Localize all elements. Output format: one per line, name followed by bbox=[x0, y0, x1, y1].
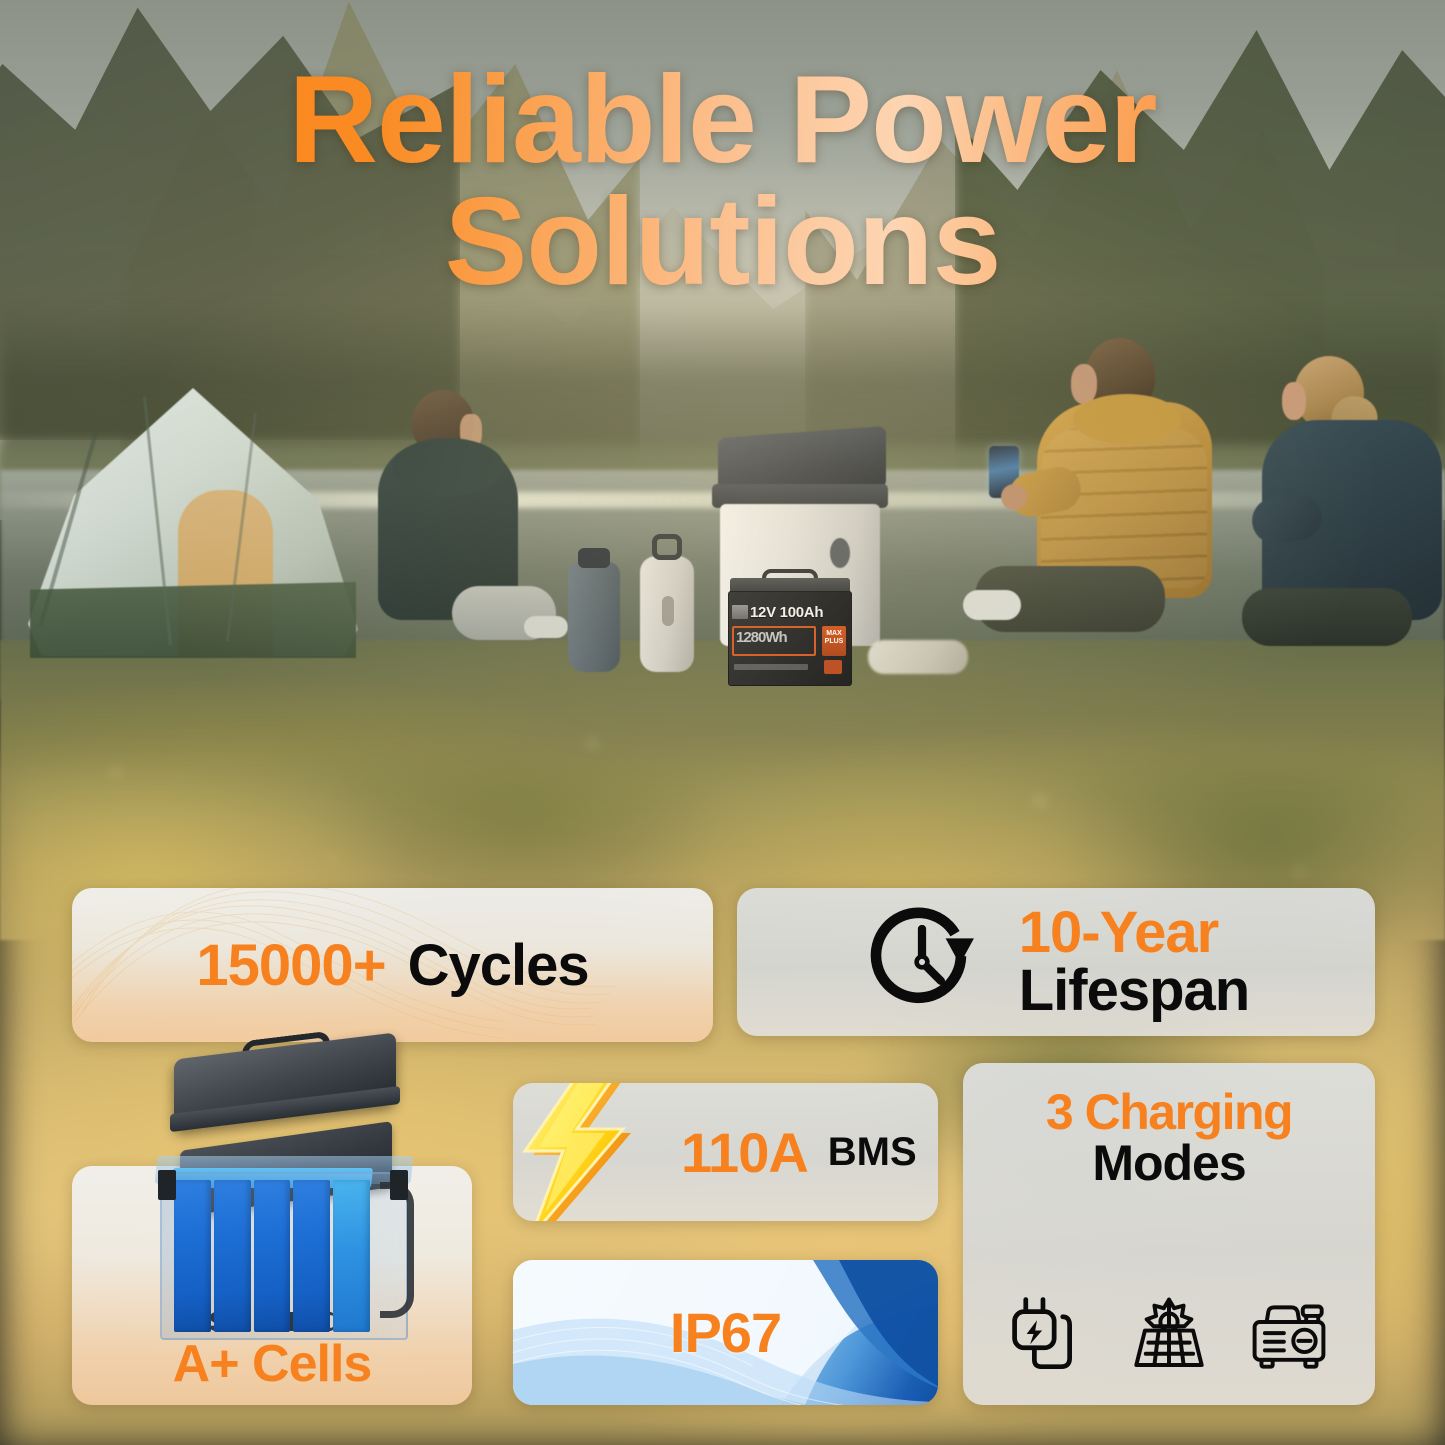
feature-card-ingress: IP67 bbox=[513, 1260, 938, 1405]
headline-line-1: Reliable Power bbox=[0, 60, 1445, 182]
ac-plug-icon bbox=[1006, 1291, 1092, 1377]
feature-card-charging-modes: 3 Charging Modes bbox=[963, 1063, 1375, 1405]
battery-capacity-label: 12V 100Ah bbox=[750, 604, 823, 621]
lifepo4-battery-product: 12V 100Ah 1280Wh MAX PLUS bbox=[728, 578, 852, 686]
feature-card-cycles: 15000+ Cycles bbox=[72, 888, 713, 1042]
lifespan-value: 10-Year bbox=[1019, 904, 1250, 962]
ground-cloth bbox=[868, 640, 968, 674]
battery-energy-label: 1280Wh bbox=[736, 629, 787, 646]
cycles-text: 15000+ Cycles bbox=[72, 888, 713, 1042]
feature-card-bms: 110A BMS bbox=[513, 1083, 938, 1221]
camper-companion bbox=[1248, 356, 1445, 656]
thermos-window bbox=[662, 596, 674, 626]
ingress-value: IP67 bbox=[513, 1260, 938, 1405]
tent bbox=[28, 370, 378, 660]
page-title: Reliable Power Solutions bbox=[0, 60, 1445, 303]
camper-with-phone bbox=[975, 338, 1245, 658]
lightning-bolt-icon bbox=[513, 1083, 655, 1221]
bms-value: 110A bbox=[681, 1120, 808, 1185]
camper-at-tent bbox=[352, 390, 542, 660]
water-bottle-dark-cap bbox=[578, 548, 610, 568]
modes-line-1: 3 Charging bbox=[963, 1087, 1375, 1138]
cells-line-2: A+ Cells bbox=[72, 1338, 472, 1391]
cycles-label: Cycles bbox=[408, 932, 589, 999]
bms-text: 110A BMS bbox=[681, 1083, 917, 1221]
charging-mode-icons bbox=[963, 1291, 1375, 1377]
water-bottle-dark bbox=[568, 562, 620, 672]
generator-icon bbox=[1246, 1291, 1332, 1377]
feature-card-lifespan: 10-Year Lifespan bbox=[737, 888, 1375, 1036]
product-feature-image: 12V 100Ah 1280Wh MAX PLUS bbox=[0, 0, 1445, 1445]
bms-label: BMS bbox=[828, 1130, 917, 1175]
battery-badge: MAX PLUS bbox=[822, 626, 846, 656]
clock-arrow-icon bbox=[863, 903, 981, 1021]
battery-ip-badge bbox=[824, 660, 842, 674]
thermos-handle bbox=[652, 534, 682, 560]
lifespan-label: Lifespan bbox=[1019, 962, 1250, 1020]
solar-panel-icon bbox=[1126, 1291, 1212, 1377]
lifespan-text: 10-Year Lifespan bbox=[1019, 904, 1250, 1020]
battery-exploded-view-icon bbox=[112, 1040, 442, 1340]
modes-line-2: Modes bbox=[963, 1138, 1375, 1189]
modes-text: 3 Charging Modes bbox=[963, 1087, 1375, 1189]
headline-line-2: Solutions bbox=[0, 182, 1445, 304]
cycles-value: 15000+ bbox=[196, 932, 385, 999]
